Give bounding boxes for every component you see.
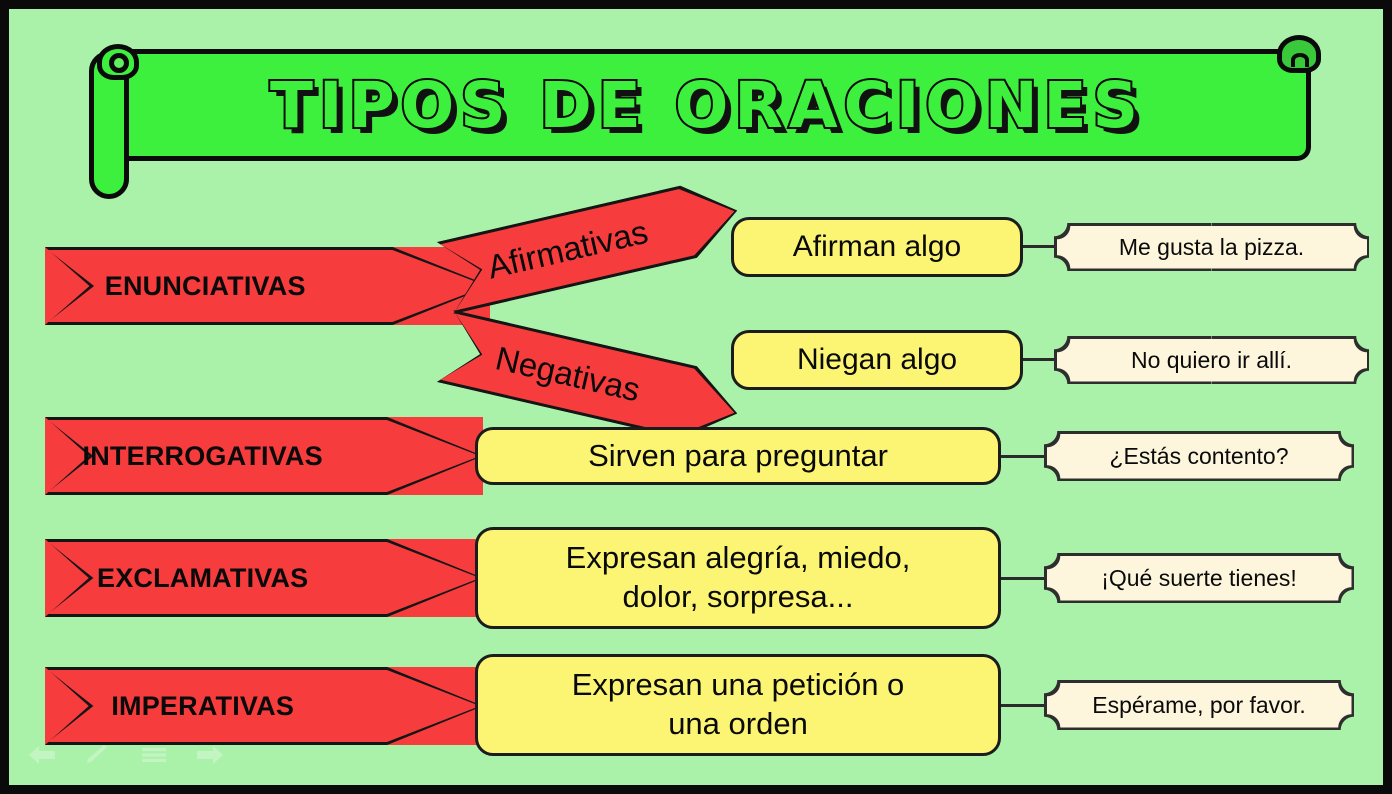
definition-line-1: Expresan alegría, miedo, <box>566 539 911 578</box>
category-label-exclamativas: EXCLAMATIVAS <box>45 539 360 617</box>
pencil-icon[interactable] <box>83 743 113 767</box>
category-arrow-exclamativas[interactable]: EXCLAMATIVAS <box>45 539 483 617</box>
category-arrow-interrogativas[interactable]: INTERROGATIVAS <box>45 417 483 495</box>
menu-lines-icon[interactable] <box>139 743 169 767</box>
example-plaque-imperativas: Espérame, por favor. <box>1044 680 1354 730</box>
title-scroll-banner: TIPOS DE ORACIONES <box>75 31 1339 181</box>
definition-box-imperativas: Expresan una petición o una orden <box>475 654 1001 756</box>
example-plaque-exclamativas: ¡Qué suerte tienes! <box>1044 553 1354 603</box>
connector-interrogativas <box>1001 455 1047 458</box>
connector-afirmativas <box>1023 245 1057 248</box>
definition-box-negativas: Niegan algo <box>731 330 1023 390</box>
definition-box-exclamativas: Expresan alegría, miedo, dolor, sorpresa… <box>475 527 1001 629</box>
back-arrow-icon[interactable] <box>27 743 57 767</box>
connector-exclamativas <box>1001 577 1047 580</box>
connector-imperativas <box>1001 704 1047 707</box>
category-label-interrogativas: INTERROGATIVAS <box>45 417 360 495</box>
example-text-imperativas: Espérame, por favor. <box>1044 680 1354 730</box>
subtype-label-negativas: Negativas <box>460 315 675 433</box>
category-arrow-enunciativas[interactable]: ENUNCIATIVAS <box>45 247 490 325</box>
example-plaque-negativas: No quiero ir allí. <box>1054 336 1369 384</box>
connector-negativas <box>1023 358 1057 361</box>
category-label-imperativas: IMPERATIVAS <box>45 667 360 745</box>
presentation-toolbar[interactable] <box>27 743 225 767</box>
definition-box-interrogativas: Sirven para preguntar <box>475 427 1001 485</box>
example-text-negativas: No quiero ir allí. <box>1054 336 1369 384</box>
example-plaque-interrogativas: ¿Estás contento? <box>1044 431 1354 481</box>
forward-arrow-icon[interactable] <box>195 743 225 767</box>
slide-canvas: TIPOS DE ORACIONES ENUNCIATIVAS Afirmati… <box>0 0 1392 794</box>
example-text-exclamativas: ¡Qué suerte tienes! <box>1044 553 1354 603</box>
definition-box-afirmativas: Afirman algo <box>731 217 1023 277</box>
example-plaque-afirmativas: Me gusta la pizza. <box>1054 223 1369 271</box>
definition-line-2: una orden <box>668 705 808 744</box>
definition-line-1: Expresan una petición o <box>572 666 905 705</box>
subtype-arrow-afirmativas[interactable]: Afirmativas <box>437 174 746 314</box>
page-title: TIPOS DE ORACIONES <box>103 49 1311 161</box>
example-text-interrogativas: ¿Estás contento? <box>1044 431 1354 481</box>
subtype-label-afirmativas: Afirmativas <box>460 191 675 309</box>
definition-line-2: dolor, sorpresa... <box>623 578 854 617</box>
category-arrow-imperativas[interactable]: IMPERATIVAS <box>45 667 483 745</box>
example-text-afirmativas: Me gusta la pizza. <box>1054 223 1369 271</box>
category-label-enunciativas: ENUNCIATIVAS <box>45 247 365 325</box>
